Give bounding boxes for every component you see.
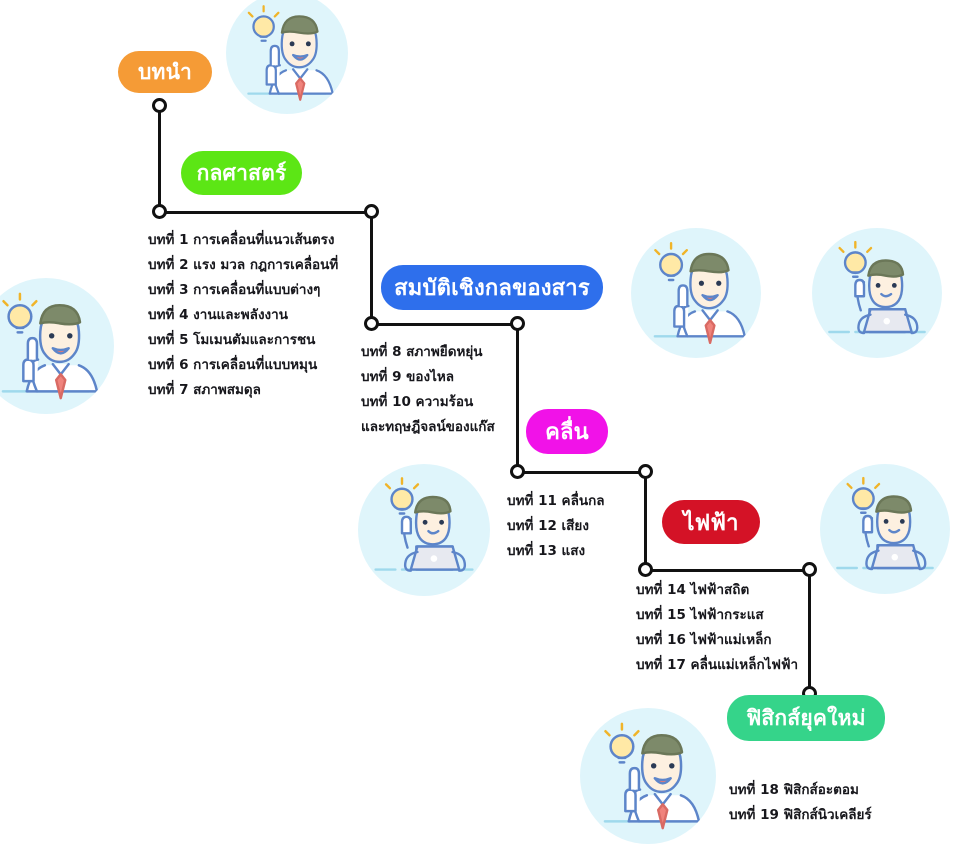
chapter-list-waves: บทที่ 11 คลื่นกล บทที่ 12 เสียง บทที่ 13… [507,489,605,564]
chapter-item: บทที่ 10 ความร้อน [361,390,495,415]
section-pill-mechanics-label: กลศาสตร์ [197,157,287,190]
student-idea-laptop-illustration [820,464,950,594]
section-pill-intro-label: บทนำ [138,56,192,89]
student-idea-pointing-illustration [226,0,348,114]
chapter-item: บทที่ 7 สภาพสมดุล [148,378,338,403]
chapter-item: บทที่ 4 งานและพลังงาน [148,303,338,328]
section-pill-modern-physics-label: ฟิสิกส์ยุคใหม่ [746,702,865,735]
node-waves-right [638,464,653,479]
connector-properties-horizontal [370,323,518,326]
chapter-item: บทที่ 5 โมเมนตัมและการชน [148,328,338,353]
chapter-list-mechanics: บทที่ 1 การเคลื่อนที่แนวเส้นตรง บทที่ 2 … [148,228,338,403]
chapter-item-continuation: และทฤษฎีจลน์ของแก๊ส [361,415,495,440]
chapter-item: บทที่ 1 การเคลื่อนที่แนวเส้นตรง [148,228,338,253]
chapter-list-modern-physics: บทที่ 18 ฟิสิกส์อะตอม บทที่ 19 ฟิสิกส์นิ… [729,778,872,828]
node-properties-right [510,316,525,331]
chapter-item: บทที่ 13 แสง [507,539,605,564]
chapter-item: บทที่ 8 สภาพยืดหยุ่น [361,340,495,365]
chapter-item: บทที่ 3 การเคลื่อนที่แบบต่างๆ [148,278,338,303]
roadmap-diagram: บทนำ กลศาสตร์ สมบัติเชิงกลของสาร คลื่น ไ… [0,0,960,837]
chapter-item: บทที่ 19 ฟิสิกส์นิวเคลียร์ [729,803,872,828]
node-electricity-right [802,562,817,577]
chapter-item: บทที่ 17 คลื่นแม่เหล็กไฟฟ้า [636,653,798,678]
connector-mechanics-to-properties [370,211,373,325]
student-idea-pointing-illustration [631,228,761,358]
section-pill-mechanics[interactable]: กลศาสตร์ [181,151,302,195]
section-pill-waves[interactable]: คลื่น [526,409,608,454]
chapter-list-electricity: บทที่ 14 ไฟฟ้าสถิต บทที่ 15 ไฟฟ้ากระแส บ… [636,578,798,678]
chapter-item: บทที่ 15 ไฟฟ้ากระแส [636,603,798,628]
connector-waves-to-electricity [644,471,647,571]
section-pill-electricity[interactable]: ไฟฟ้า [662,500,760,544]
connector-mechanics-horizontal [158,211,372,214]
node-intro [152,98,167,113]
chapter-list-mechanical-properties: บทที่ 8 สภาพยืดหยุ่น บทที่ 9 ของไหล บทที… [361,340,495,440]
student-idea-pointing-illustration [580,708,716,844]
section-pill-modern-physics[interactable]: ฟิสิกส์ยุคใหม่ [727,695,885,741]
chapter-item: บทที่ 6 การเคลื่อนที่แบบหมุน [148,353,338,378]
node-mechanics-left [152,204,167,219]
section-pill-mechanical-properties[interactable]: สมบัติเชิงกลของสาร [381,265,603,310]
chapter-item: บทที่ 18 ฟิสิกส์อะตอม [729,778,872,803]
chapter-item: บทที่ 9 ของไหล [361,365,495,390]
node-mechanics-right [364,204,379,219]
chapter-item: บทที่ 2 แรง มวล กฎการเคลื่อนที่ [148,253,338,278]
connector-electricity-horizontal [644,569,810,572]
student-idea-pointing-illustration [0,278,114,414]
connector-waves-horizontal [516,471,646,474]
connector-intro-to-mechanics [158,105,161,213]
chapter-item: บทที่ 16 ไฟฟ้าแม่เหล็ก [636,628,798,653]
node-electricity-left [638,562,653,577]
student-idea-laptop-illustration [358,464,490,596]
chapter-item: บทที่ 12 เสียง [507,514,605,539]
connector-electricity-to-modern [808,569,811,693]
section-pill-electricity-label: ไฟฟ้า [683,505,738,540]
student-idea-laptop-illustration [812,228,942,358]
chapter-item: บทที่ 11 คลื่นกล [507,489,605,514]
node-properties-left [364,316,379,331]
connector-properties-to-waves [516,323,519,473]
chapter-item: บทที่ 14 ไฟฟ้าสถิต [636,578,798,603]
section-pill-waves-label: คลื่น [545,414,589,449]
section-pill-mechanical-properties-label: สมบัติเชิงกลของสาร [394,270,590,305]
section-pill-intro[interactable]: บทนำ [118,51,212,93]
node-waves-left [510,464,525,479]
